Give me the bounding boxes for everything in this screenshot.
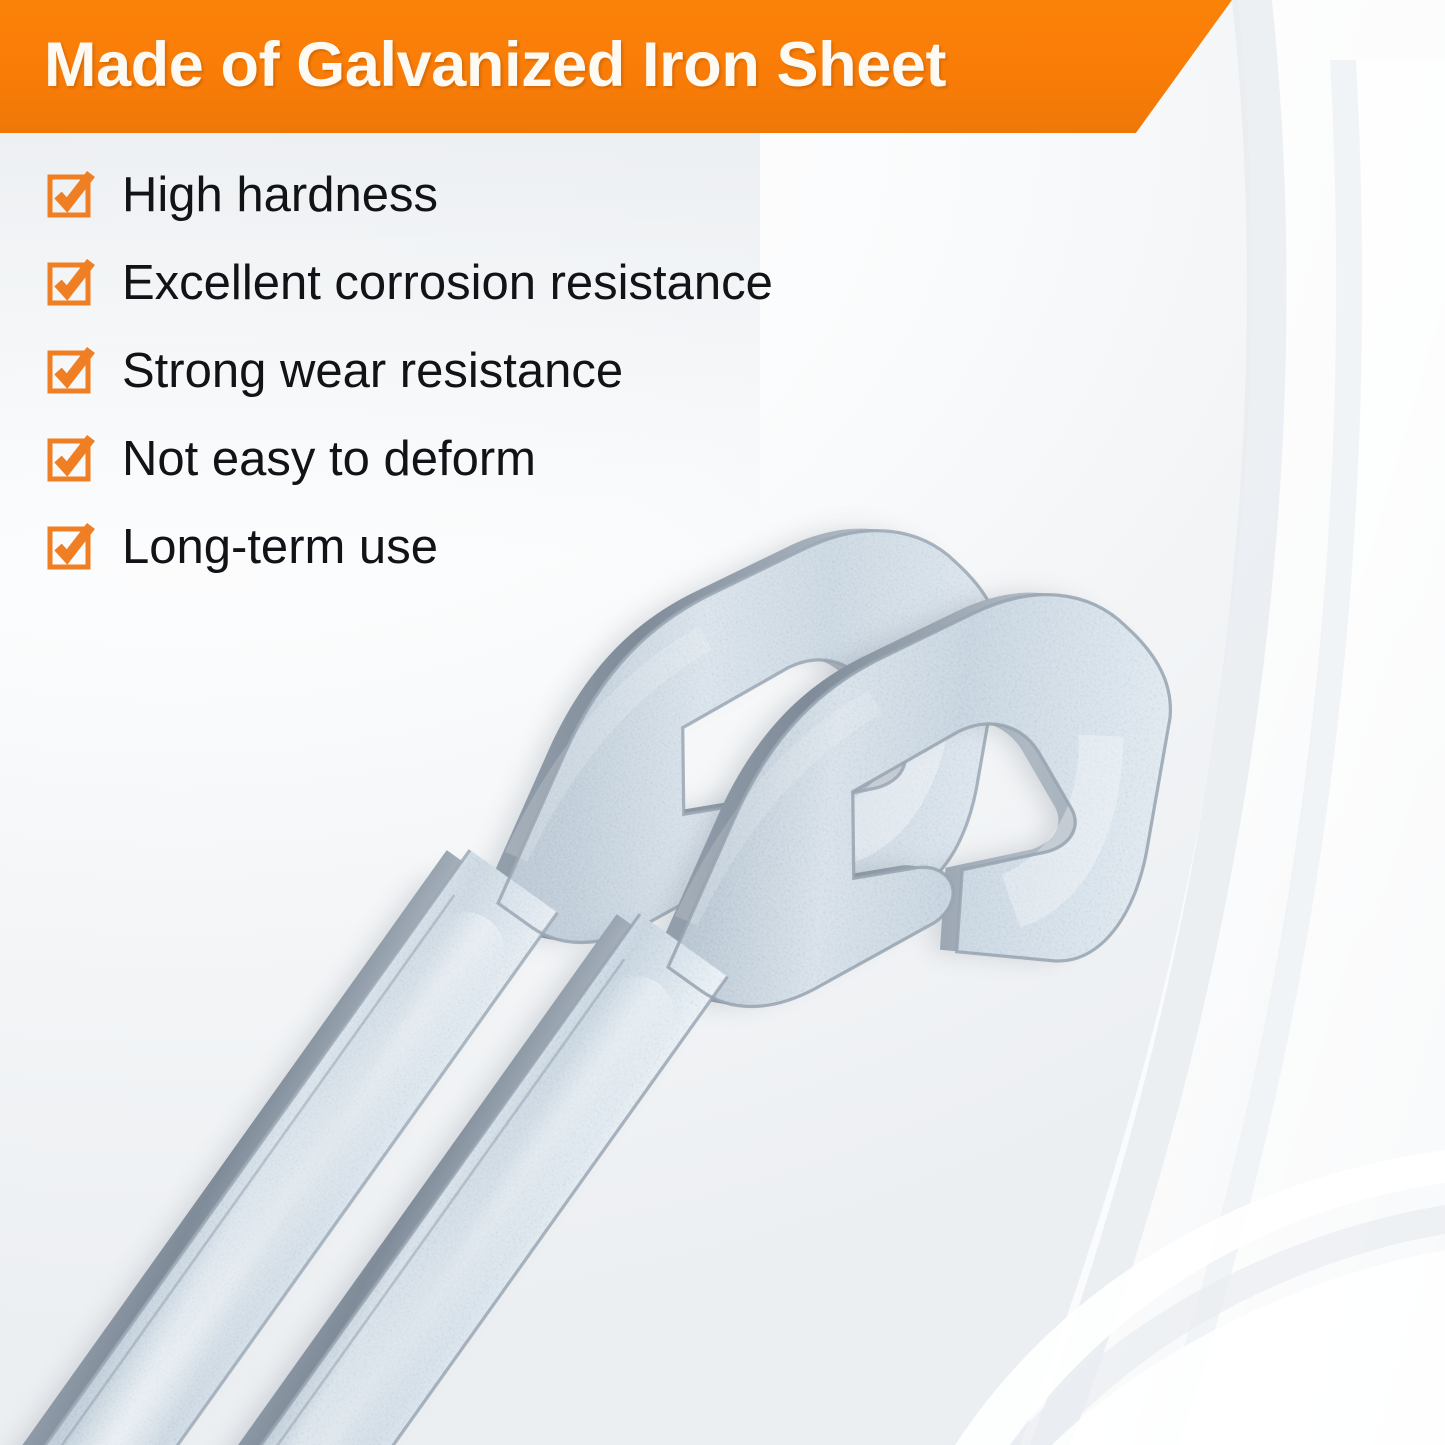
checkbox-checked-icon xyxy=(47,172,93,218)
list-item: High hardness xyxy=(47,166,947,224)
list-item-label: Not easy to deform xyxy=(122,435,536,484)
checkbox-checked-icon xyxy=(47,436,93,482)
feature-list: High hardness Excellent corrosion resist… xyxy=(47,166,947,606)
checkbox-checked-icon xyxy=(47,260,93,306)
checkbox-checked-icon xyxy=(47,348,93,394)
list-item-label: Strong wear resistance xyxy=(122,347,623,396)
product-infographic: Made of Galvanized Iron Sheet High hardn… xyxy=(0,0,1445,1445)
page-title: Made of Galvanized Iron Sheet xyxy=(44,34,946,97)
list-item-label: Long-term use xyxy=(122,523,438,572)
list-item: Long-term use xyxy=(47,518,947,576)
list-item: Excellent corrosion resistance xyxy=(47,254,947,312)
list-item: Strong wear resistance xyxy=(47,342,947,400)
checkbox-checked-icon xyxy=(47,524,93,570)
header-banner: Made of Galvanized Iron Sheet xyxy=(0,0,1232,133)
list-item-label: Excellent corrosion resistance xyxy=(122,259,773,308)
list-item: Not easy to deform xyxy=(47,430,947,488)
list-item-label: High hardness xyxy=(122,171,438,220)
